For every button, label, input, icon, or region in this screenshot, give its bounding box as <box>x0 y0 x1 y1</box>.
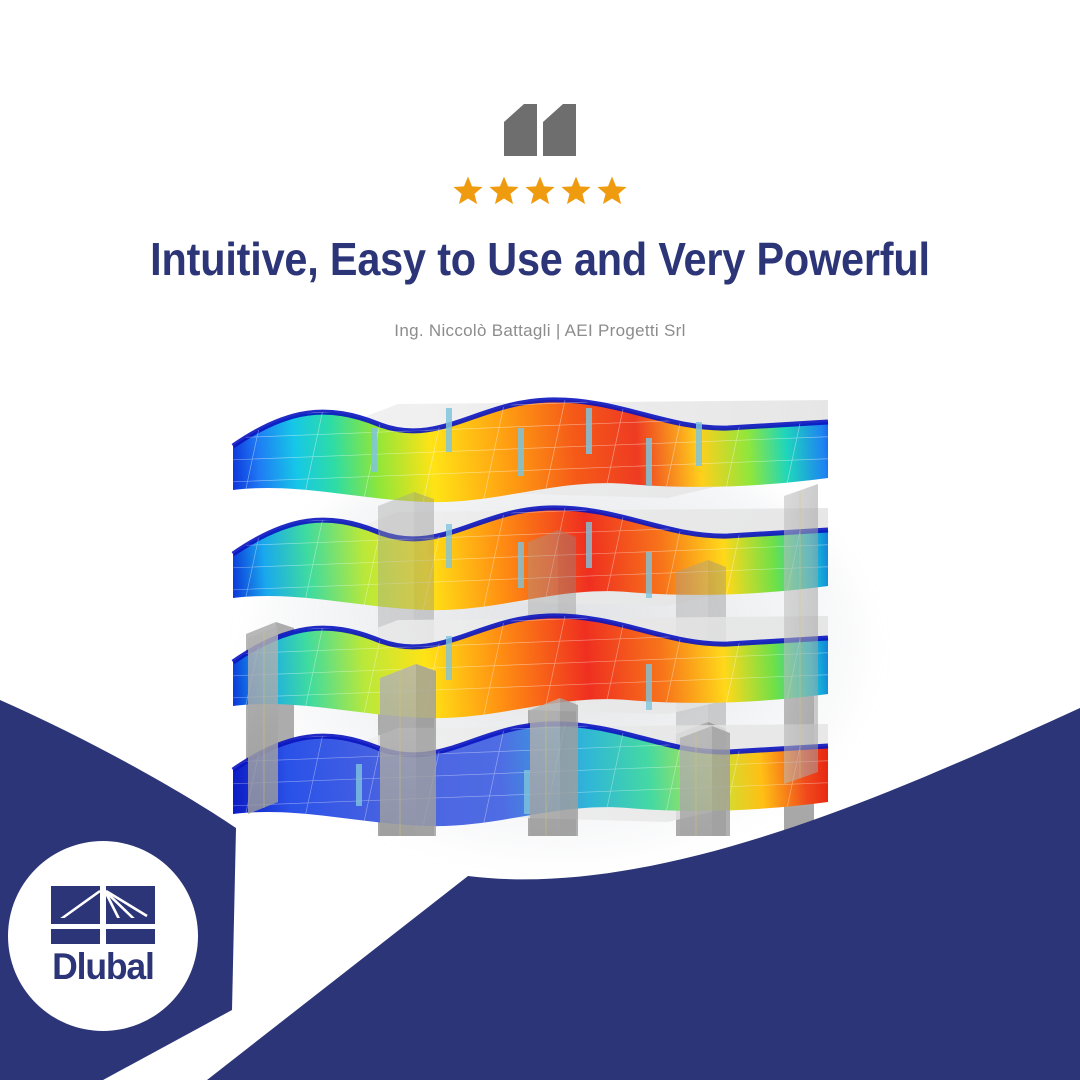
quotation-mark-icon <box>504 104 576 156</box>
bridge-truss-icon <box>51 886 155 944</box>
star-icon <box>561 176 591 205</box>
star-rating <box>0 176 1080 205</box>
fea-structure <box>228 386 848 836</box>
testimonial-card: Intuitive, Easy to Use and Very Powerful… <box>0 0 1080 1080</box>
star-icon <box>453 176 483 205</box>
quote-mark <box>0 104 1080 161</box>
fea-model-render <box>228 386 848 836</box>
star-icon <box>597 176 627 205</box>
dlubal-logo[interactable]: Dlubal <box>8 841 198 1031</box>
concrete-wall-right <box>784 484 818 784</box>
testimonial-headline: Intuitive, Easy to Use and Very Powerful <box>54 231 1026 287</box>
dlubal-wordmark: Dlubal <box>52 948 154 986</box>
star-icon <box>525 176 555 205</box>
star-icon <box>489 176 519 205</box>
testimonial-attribution: Ing. Niccolò Battagli | AEI Progetti Srl <box>0 321 1080 341</box>
